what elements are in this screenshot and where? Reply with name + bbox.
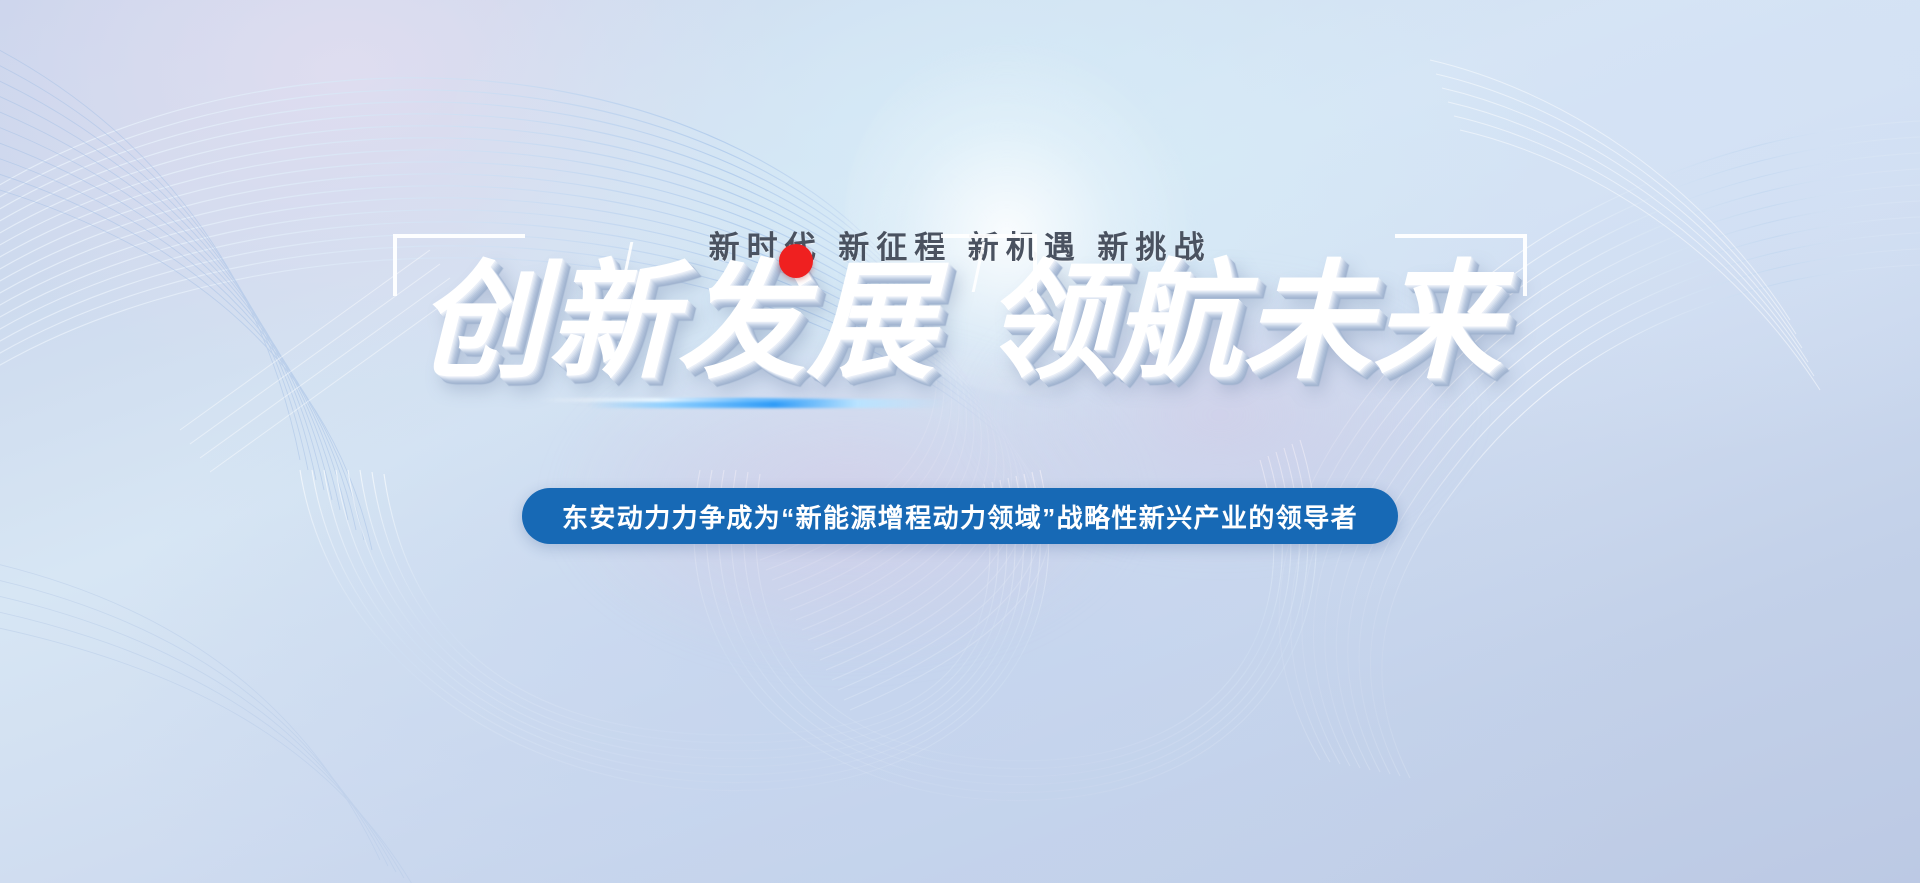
subtitle-pill: 东安动力力争成为“新能源增程动力领域”战略性新兴产业的领导者 bbox=[522, 488, 1398, 544]
promotional-banner: 新时代 新征程 新机遇 新挑战 创新发展领航未来 东安动力力争成为“新能源增程动… bbox=[0, 0, 1920, 883]
headline-phrase-two: 领航未来 bbox=[983, 251, 1503, 394]
headline-container: 创新发展领航未来 bbox=[0, 248, 1920, 398]
headline-phrase-one: 创新发展 bbox=[417, 251, 937, 394]
banner-headline: 创新发展领航未来 bbox=[417, 248, 1503, 398]
red-dot-icon bbox=[779, 244, 813, 278]
light-beam-secondary-icon bbox=[537, 398, 837, 402]
